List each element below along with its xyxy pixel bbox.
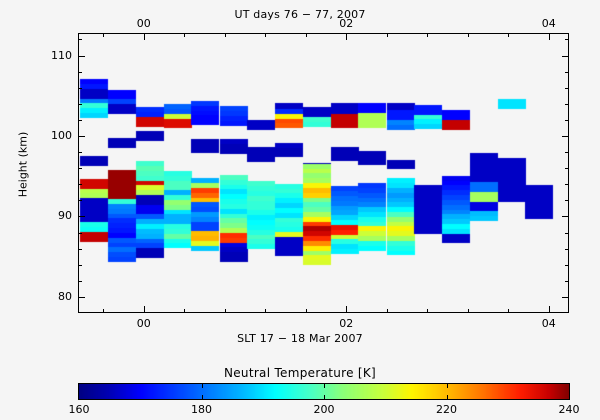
right-minor-tick xyxy=(565,281,569,282)
colorbar-title: Neutral Temperature [K] xyxy=(0,366,600,380)
left-minor-tick xyxy=(78,233,82,234)
left-minor-tick xyxy=(78,216,82,217)
colorbar-tick xyxy=(202,383,203,388)
right-minor-tick xyxy=(565,88,569,89)
colorbar-tick xyxy=(324,383,325,388)
top-minor-tick xyxy=(387,33,388,37)
y-tick-label-100: 100 xyxy=(32,129,72,142)
top-minor-tick xyxy=(265,33,266,37)
top-minor-tick xyxy=(508,33,509,37)
y-tick-label-80: 80 xyxy=(32,290,72,303)
right-minor-tick xyxy=(565,249,569,250)
right-minor-tick xyxy=(565,184,569,185)
top-minor-tick xyxy=(103,33,104,37)
colorbar-tick xyxy=(447,383,448,388)
colorbar-tick xyxy=(324,395,325,400)
left-minor-tick xyxy=(78,88,82,89)
bottom-minor-tick xyxy=(427,309,428,313)
top-minor-tick xyxy=(184,33,185,37)
colorbar-tick-label-160: 160 xyxy=(54,403,104,416)
top-minor-tick xyxy=(144,33,145,37)
left-minor-tick xyxy=(78,136,82,137)
left-minor-tick xyxy=(78,120,82,121)
right-minor-tick xyxy=(565,233,569,234)
left-minor-tick xyxy=(78,152,82,153)
top-minor-tick xyxy=(427,33,428,37)
right-minor-tick xyxy=(565,39,569,40)
y-axis-label: Height (km) xyxy=(17,120,30,210)
bottom-tick-label-02: 02 xyxy=(326,317,366,330)
left-minor-tick xyxy=(78,184,82,185)
right-minor-tick xyxy=(565,72,569,73)
bottom-minor-tick xyxy=(468,309,469,313)
top-minor-tick xyxy=(549,33,550,37)
bottom-minor-tick xyxy=(144,309,145,313)
colorbar-tick xyxy=(447,395,448,400)
right-minor-tick xyxy=(565,136,569,137)
right-minor-tick xyxy=(565,120,569,121)
y-tick-label-90: 90 xyxy=(32,209,72,222)
top-axis-title: UT days 76 − 77, 2007 xyxy=(0,8,600,21)
bottom-minor-tick xyxy=(265,309,266,313)
right-minor-tick xyxy=(565,152,569,153)
right-minor-tick xyxy=(565,297,569,298)
right-minor-tick xyxy=(565,200,569,201)
left-minor-tick xyxy=(78,265,82,266)
top-tick-label-04: 04 xyxy=(529,17,569,30)
top-minor-tick xyxy=(306,33,307,37)
bottom-minor-tick xyxy=(184,309,185,313)
colorbar-tick-label-180: 180 xyxy=(177,403,227,416)
bottom-minor-tick xyxy=(306,309,307,313)
left-minor-tick xyxy=(78,281,82,282)
right-minor-tick xyxy=(565,168,569,169)
y-tick-label-110: 110 xyxy=(32,49,72,62)
top-minor-tick xyxy=(468,33,469,37)
bottom-tick-label-04: 04 xyxy=(529,317,569,330)
top-tick-label-00: 00 xyxy=(124,17,164,30)
bottom-minor-tick xyxy=(346,309,347,313)
bottom-minor-tick xyxy=(225,309,226,313)
bottom-minor-tick xyxy=(103,309,104,313)
left-minor-tick xyxy=(78,104,82,105)
left-minor-tick xyxy=(78,72,82,73)
colorbar-tick xyxy=(202,395,203,400)
left-minor-tick xyxy=(78,297,82,298)
right-minor-tick xyxy=(565,265,569,266)
left-minor-tick xyxy=(78,39,82,40)
right-minor-tick xyxy=(565,216,569,217)
top-minor-tick xyxy=(346,33,347,37)
heatmap-plot-area[interactable]: Contact J.S. Friedman before use, acknow… xyxy=(78,33,569,313)
right-minor-tick xyxy=(565,104,569,105)
top-minor-tick xyxy=(225,33,226,37)
bottom-minor-tick xyxy=(508,309,509,313)
bottom-axis-title: SLT 17 − 18 Mar 2007 xyxy=(0,332,600,345)
colorbar-tick-label-240: 240 xyxy=(544,403,594,416)
bottom-tick-label-00: 00 xyxy=(124,317,164,330)
bottom-minor-tick xyxy=(387,309,388,313)
colorbar-tick-label-220: 220 xyxy=(422,403,472,416)
left-minor-tick xyxy=(78,168,82,169)
left-minor-tick xyxy=(78,249,82,250)
left-minor-tick xyxy=(78,56,82,57)
right-minor-tick xyxy=(565,56,569,57)
left-minor-tick xyxy=(78,200,82,201)
colorbar-tick-label-200: 200 xyxy=(299,403,349,416)
bottom-minor-tick xyxy=(549,309,550,313)
top-tick-label-02: 02 xyxy=(326,17,366,30)
heatmap-canvas xyxy=(79,34,569,313)
